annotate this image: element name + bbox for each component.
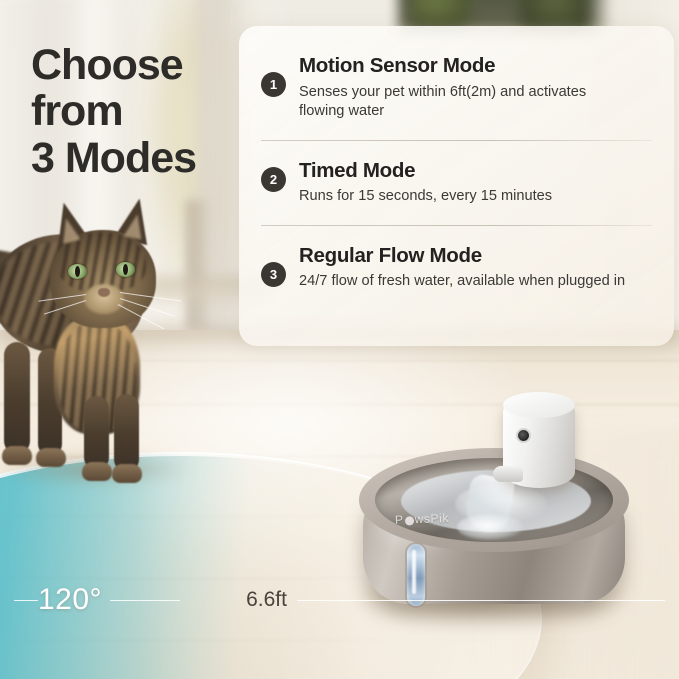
cat-pupil-left (75, 266, 80, 277)
motion-sensor-icon (518, 430, 529, 441)
mode-item-motion-sensor: 1 Motion Sensor Mode Senses your pet wit… (239, 26, 674, 122)
paw-print-icon (404, 516, 413, 525)
headline-line-2: from (31, 88, 246, 134)
water-spout (493, 466, 523, 482)
cat-paw (112, 464, 142, 483)
cat-leg (4, 342, 30, 454)
fountain-pump-top (503, 392, 575, 418)
mode-item-regular-flow: 3 Regular Flow Mode 24/7 flow of fresh w… (239, 226, 674, 292)
pet-water-fountain: P wsPik (355, 392, 645, 642)
mode-description: Runs for 15 seconds, every 15 minutes (299, 187, 629, 207)
water-splash (457, 514, 523, 540)
brand-logo-prefix: P (395, 513, 404, 527)
mode-title: Motion Sensor Mode (299, 54, 656, 79)
cat-nose (98, 288, 110, 297)
modes-card: 1 Motion Sensor Mode Senses your pet wit… (239, 26, 674, 346)
plant-leaf-icon (520, 0, 590, 28)
cat-pupil-right (123, 264, 128, 275)
mode-title: Regular Flow Mode (299, 244, 656, 269)
brand-logo: P wsPik (395, 511, 449, 527)
product-feature-scene: P wsPik 120° 6.6ft Choose from 3 Modes 1… (0, 0, 679, 679)
page-title: Choose from 3 Modes (31, 42, 246, 181)
mode-title: Timed Mode (299, 159, 656, 184)
mode-item-timed: 2 Timed Mode Runs for 15 seconds, every … (239, 141, 674, 207)
headline-line-3: 3 Modes (31, 135, 246, 181)
cat-paw (36, 448, 66, 467)
mode-number-badge: 3 (261, 262, 286, 287)
cat-paw (2, 446, 32, 465)
water-level-indicator (407, 544, 425, 606)
mode-description: Senses your pet within 6ft(2m) and activ… (299, 83, 629, 122)
mode-description: 24/7 flow of fresh water, available when… (299, 272, 629, 292)
cat-leg (84, 396, 109, 470)
headline-line-1: Choose (31, 42, 246, 88)
mode-number-badge: 2 (261, 167, 286, 192)
cat-paw (82, 462, 112, 481)
brand-logo-suffix: wsPik (414, 511, 449, 526)
plant-leaf-icon (412, 0, 470, 28)
water-level-gloss (412, 550, 416, 594)
cat-photo (0, 196, 222, 496)
mode-number-badge: 1 (261, 72, 286, 97)
cat-leg (114, 394, 139, 472)
